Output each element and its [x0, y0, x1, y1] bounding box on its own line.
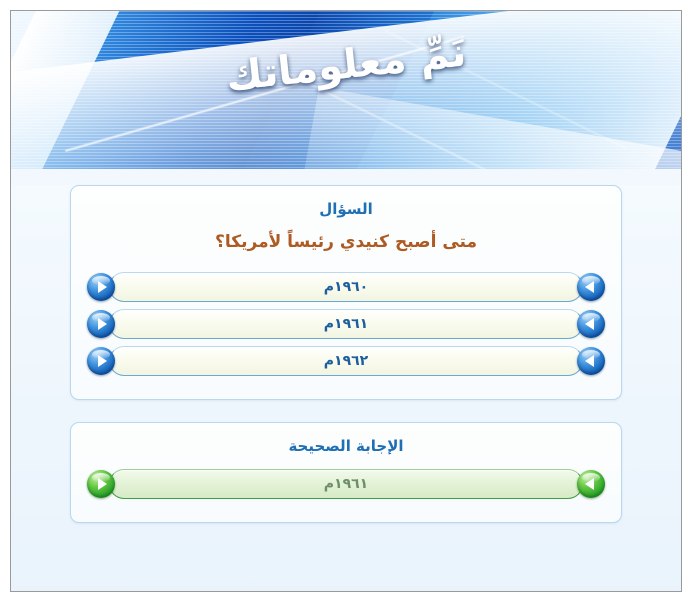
- play-right-icon[interactable]: [87, 273, 115, 301]
- answer-heading: الإجابة الصحيحة: [83, 433, 609, 457]
- option-bar[interactable]: ١٩٦٢م: [109, 346, 583, 376]
- header-banner: نَمِّ معلوماتك: [11, 11, 681, 169]
- option-label: ١٩٦٠م: [324, 279, 368, 295]
- play-left-icon[interactable]: [577, 273, 605, 301]
- answer-panel: الإجابة الصحيحة ١٩٦١م: [70, 422, 622, 523]
- play-right-green-icon[interactable]: [87, 470, 115, 498]
- banner-graphics: [11, 11, 681, 169]
- correct-answer-label: ١٩٦١م: [324, 476, 368, 492]
- correct-answer-row[interactable]: ١٩٦١م: [87, 469, 605, 499]
- triangle-left-glyph: [585, 355, 594, 367]
- content-frame: نَمِّ معلوماتك lovely0smile.com السؤال م…: [10, 10, 682, 592]
- triangle-right-glyph: [98, 478, 107, 490]
- main-content: lovely0smile.com السؤال متى أصبح كنيدي ر…: [11, 185, 681, 592]
- question-heading: السؤال: [83, 196, 609, 220]
- triangle-left-glyph: [585, 318, 594, 330]
- question-panel: السؤال متى أصبح كنيدي رئيساً لأمريكا؟ ١٩…: [70, 185, 622, 400]
- option-label: ١٩٦١م: [324, 316, 368, 332]
- question-text: متى أصبح كنيدي رئيساً لأمريكا؟: [83, 220, 609, 266]
- option-bar[interactable]: ١٩٦٠م: [109, 272, 583, 302]
- option-row[interactable]: ١٩٦١م: [87, 309, 605, 339]
- triangle-right-glyph: [98, 318, 107, 330]
- option-row[interactable]: ١٩٦٢م: [87, 346, 605, 376]
- triangle-left-glyph: [585, 281, 594, 293]
- page-root: نَمِّ معلوماتك lovely0smile.com السؤال م…: [0, 0, 692, 602]
- play-left-icon[interactable]: [577, 310, 605, 338]
- triangle-left-glyph: [585, 478, 594, 490]
- option-row[interactable]: ١٩٦٠م: [87, 272, 605, 302]
- correct-answer-bar[interactable]: ١٩٦١م: [109, 469, 583, 499]
- play-right-icon[interactable]: [87, 310, 115, 338]
- triangle-right-glyph: [98, 355, 107, 367]
- play-right-icon[interactable]: [87, 347, 115, 375]
- triangle-right-glyph: [98, 281, 107, 293]
- option-label: ١٩٦٢م: [324, 353, 368, 369]
- play-left-green-icon[interactable]: [577, 470, 605, 498]
- option-bar[interactable]: ١٩٦١م: [109, 309, 583, 339]
- play-left-icon[interactable]: [577, 347, 605, 375]
